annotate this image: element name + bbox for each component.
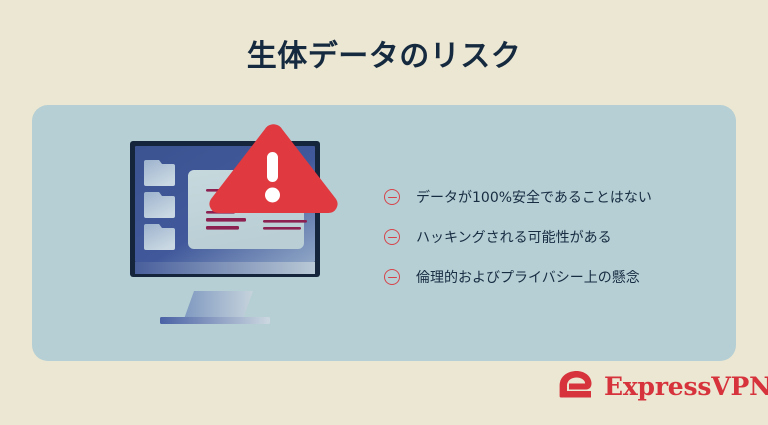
page-title: 生体データのリスク: [0, 38, 768, 76]
screen-folder-icons: [144, 160, 175, 250]
risk-bullet-list: データが100%安全であることはない ハッキングされる可能性がある 倫理的および…: [384, 178, 714, 298]
monitor-chin: [135, 262, 315, 274]
expressvpn-mark-icon: [558, 369, 594, 403]
minus-circle-icon: [384, 269, 402, 287]
list-item-label: ハッキングされる可能性がある: [416, 229, 612, 248]
monitor-with-warning-illustration: [122, 123, 362, 338]
list-item-label: 倫理的およびプライバシー上の懸念: [416, 269, 640, 288]
list-item-label: データが100%安全であることはない: [416, 189, 652, 208]
list-item: ハッキングされる可能性がある: [384, 218, 714, 258]
expressvpn-logo: ExpressVPN: [558, 369, 768, 403]
monitor-stand: [160, 291, 270, 324]
list-item: データが100%安全であることはない: [384, 178, 714, 218]
minus-circle-icon: [384, 189, 402, 207]
minus-circle-icon: [384, 229, 402, 247]
expressvpn-wordmark: ExpressVPN: [604, 374, 768, 399]
slide-root: 生体データのリスク: [0, 0, 768, 425]
list-item: 倫理的およびプライバシー上の懸念: [384, 258, 714, 298]
content-card: データが100%安全であることはない ハッキングされる可能性がある 倫理的および…: [32, 105, 736, 361]
